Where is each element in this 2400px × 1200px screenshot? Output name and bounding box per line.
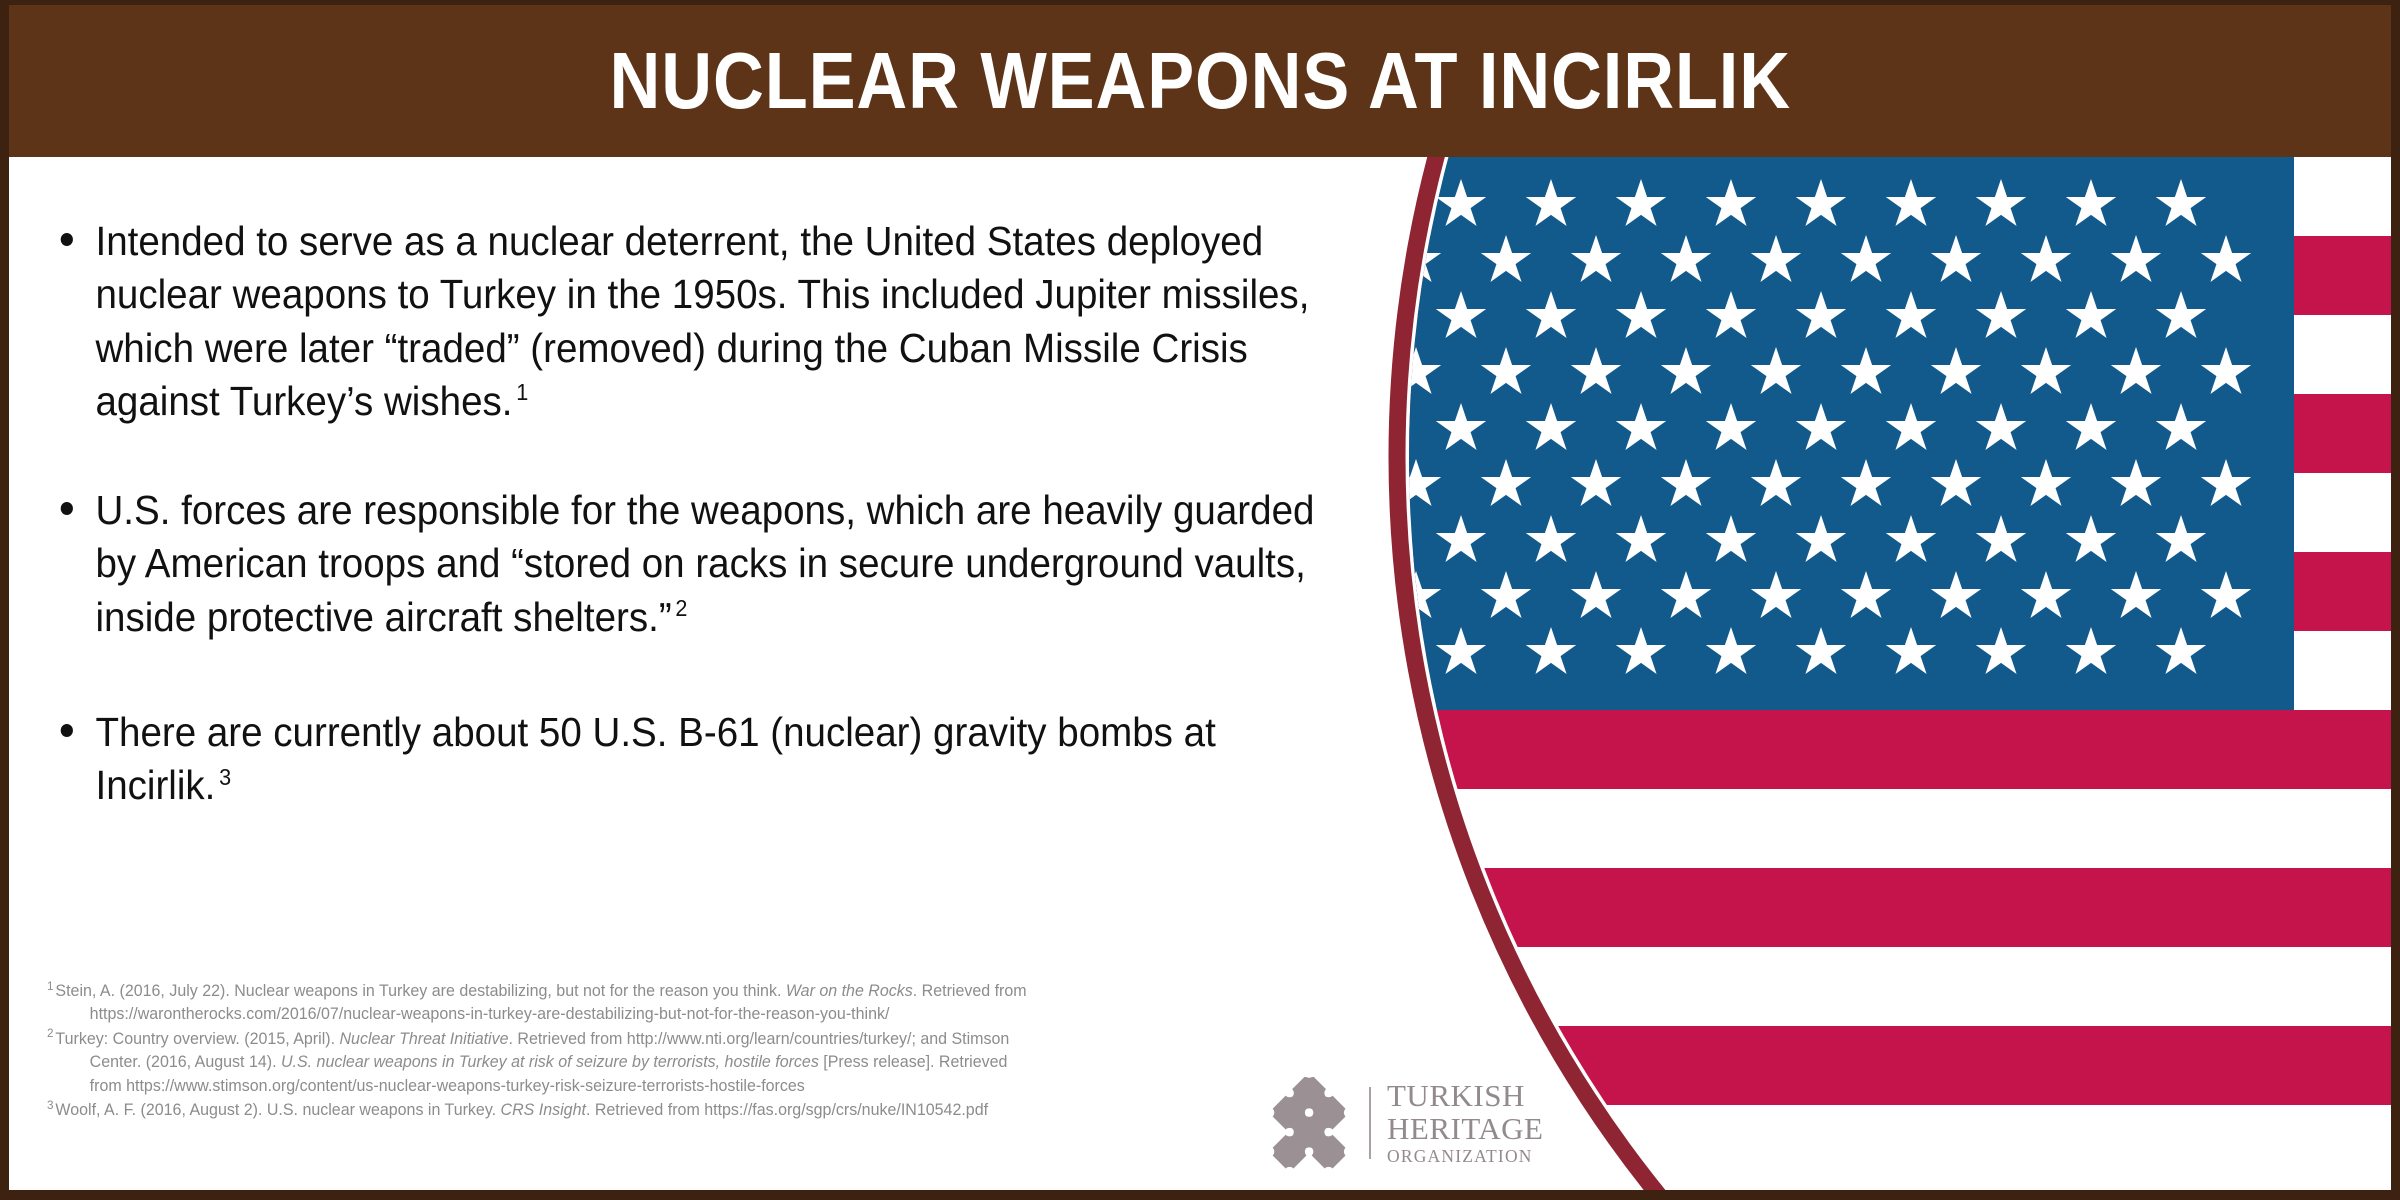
main-content: Intended to serve as a nuclear deterrent…	[9, 157, 1409, 813]
footnote-line-2: Center. (2016, August 14). U.S. nuclear …	[47, 1051, 1240, 1074]
footnote-url: https://warontherocks.com/2016/07/nuclea…	[47, 1003, 1240, 1026]
footnote-ref: 1	[512, 379, 528, 405]
diamond-lattice-icon	[1267, 1077, 1359, 1169]
footnote-text-cont: [Press release]. Retrieved	[819, 1053, 1008, 1071]
list-item: Intended to serve as a nuclear deterrent…	[9, 215, 1325, 428]
infographic-root: NUCLEAR WEAPONS AT INCIRLIK	[0, 0, 2400, 1200]
bullet-text: Intended to serve as a nuclear deterrent…	[95, 218, 1309, 424]
logo-line-3: ORGANIZATION	[1387, 1148, 1544, 1166]
header-banner: NUCLEAR WEAPONS AT INCIRLIK	[9, 5, 2391, 157]
list-item: U.S. forces are responsible for the weap…	[9, 484, 1325, 644]
footnote-text: Turkey: Country overview. (2015, April).	[55, 1030, 339, 1048]
footnotes-block: 1Stein, A. (2016, July 22). Nuclear weap…	[47, 980, 1240, 1124]
footnote-2: 2Turkey: Country overview. (2015, April)…	[47, 1028, 1240, 1098]
footnote-text: Center. (2016, August 14).	[90, 1053, 281, 1071]
page-title: NUCLEAR WEAPONS AT INCIRLIK	[609, 41, 1790, 121]
footnote-text: Woolf, A. F. (2016, August 2). U.S. nucl…	[55, 1101, 500, 1119]
list-item: There are currently about 50 U.S. B-61 (…	[9, 706, 1325, 813]
bullet-marker-icon	[61, 724, 73, 737]
turkish-heritage-organization-logo: TURKISH HERITAGE ORGANIZATION	[1267, 1073, 1527, 1173]
footnote-source-title: Nuclear Threat Initiative	[339, 1030, 508, 1048]
footnote-url: from https://www.stimson.org/content/us-…	[47, 1075, 1240, 1098]
footnote-1: 1Stein, A. (2016, July 22). Nuclear weap…	[47, 980, 1240, 1027]
footnote-source-title: U.S. nuclear weapons in Turkey at risk o…	[281, 1053, 819, 1071]
footnote-text-cont: . Retrieved from https://fas.org/sgp/crs…	[586, 1101, 988, 1119]
bullet-marker-icon	[61, 502, 73, 515]
bullet-marker-icon	[61, 233, 73, 246]
footnote-text-cont: . Retrieved from	[913, 982, 1027, 1000]
footnote-text-cont: . Retrieved from http://www.nti.org/lear…	[509, 1030, 1010, 1048]
footnote-number: 1	[47, 979, 55, 993]
logo-wordmark: TURKISH HERITAGE ORGANIZATION	[1387, 1080, 1544, 1166]
footnote-ref: 3	[215, 764, 231, 790]
bullet-text: U.S. forces are responsible for the weap…	[95, 487, 1314, 640]
footnote-text: Stein, A. (2016, July 22). Nuclear weapo…	[55, 982, 785, 1000]
footnote-number: 2	[47, 1026, 55, 1040]
footnote-3: 3Woolf, A. F. (2016, August 2). U.S. nuc…	[47, 1099, 1240, 1122]
logo-line-2: HERITAGE	[1387, 1113, 1544, 1144]
fact-list: Intended to serve as a nuclear deterrent…	[9, 215, 1409, 813]
footnote-source-title: CRS Insight	[501, 1101, 586, 1119]
bullet-text: There are currently about 50 U.S. B-61 (…	[95, 709, 1215, 808]
footnote-ref: 2	[672, 595, 688, 621]
footnote-number: 3	[47, 1098, 55, 1112]
logo-line-1: TURKISH	[1387, 1080, 1544, 1111]
footnote-source-title: War on the Rocks	[786, 982, 913, 1000]
logo-divider	[1369, 1087, 1371, 1159]
